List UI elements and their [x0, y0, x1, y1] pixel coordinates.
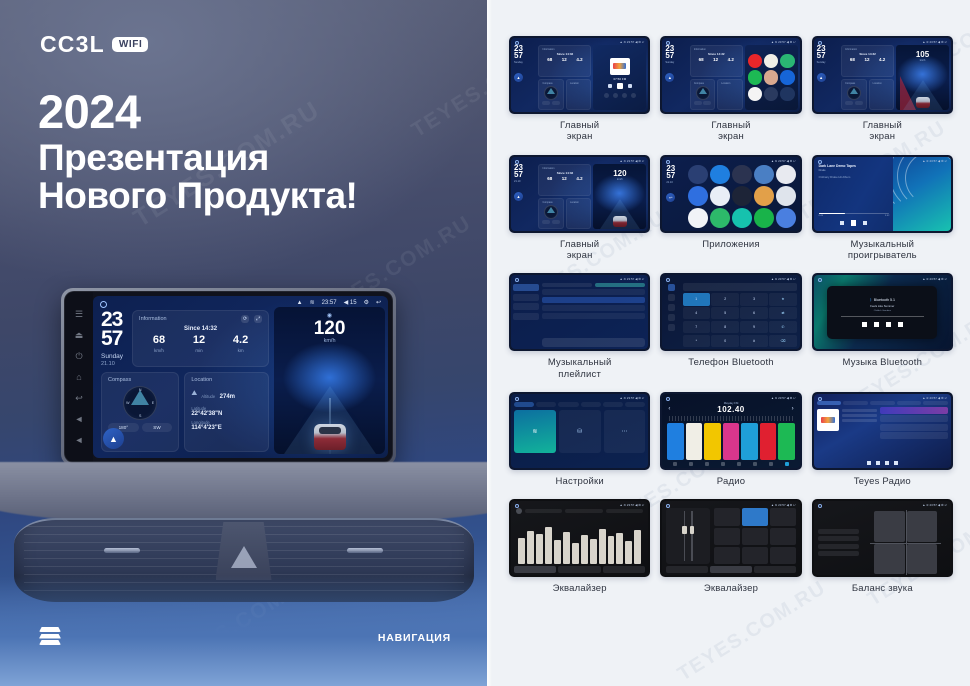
status-bar: ▲ ≋ 23:57 ◀ ⚙ ↩ — [620, 159, 645, 163]
thumbnail-caption: Эквалайзер — [553, 583, 607, 594]
song-subtitle: Ordinary Drake Hit Album — [819, 175, 890, 179]
app-icon-calculator — [754, 165, 774, 185]
thumbnail-caption: Эквалайзер — [704, 583, 758, 594]
screenshot-grid-panel: TEYES.COM.RU TEYES.COM.RU TEYES.COM.RU T… — [487, 0, 970, 686]
thumbnail-teyes-radio[interactable]: ▲ ≋ 23:57 ◀ ⚙ ↩ — [812, 392, 953, 470]
grid-item[interactable]: ▲ ≋ 23:57 ◀ ⚙ ↩ ≋ ⛁ ⋯ — [509, 392, 650, 496]
preset-2 — [686, 423, 702, 460]
home-icon — [818, 504, 822, 508]
progress-bar[interactable] — [841, 316, 924, 317]
tab-wifi — [514, 402, 534, 407]
thumbnail-bluetooth-music[interactable]: ▲ ≋ 23:57 ◀ ⚙ ↩ ᛒ Bluetooth 5.1 Feels Li… — [812, 273, 953, 351]
grid-item[interactable]: ▲ ≋ 23:57 ◀ ⚙ ↩ — [812, 499, 953, 603]
app-icon-gallery — [776, 186, 796, 206]
grid-item[interactable]: ▲ ≋ 23:57 ◀ ⚙ ↩ 23 57 21.10 ↩ — [660, 155, 801, 271]
thumbnail-home-drive-red[interactable]: ▲ ≋ 23:57 ◀ ⚙ ↩ 23 57 Sunday ▲ Informati… — [812, 36, 953, 114]
car-dashboard — [0, 452, 487, 686]
player-controls[interactable] — [862, 322, 903, 327]
previous-icon — [840, 221, 844, 225]
speaker-level-list[interactable] — [818, 529, 859, 557]
thumbnail-caption: Музыка Bluetooth — [843, 357, 923, 368]
progress-bar[interactable] — [819, 213, 890, 214]
next-icon — [885, 461, 889, 465]
key-9: 9 — [740, 321, 767, 333]
thumbnail-caption: Телефон Bluetooth — [688, 357, 774, 368]
grid-item[interactable]: ▲ ≋ 23:57 ◀ ⚙ ↩ Dark Lane Demo Tapes Dra… — [812, 155, 953, 271]
track-row[interactable] — [542, 313, 645, 319]
playlist-main[interactable] — [541, 282, 648, 349]
preset-3 — [704, 423, 720, 460]
thumbnail-apps[interactable]: ▲ ≋ 23:57 ◀ ⚙ ↩ 23 57 21.10 ↩ — [660, 155, 801, 233]
driving-widget[interactable]: 105 km/h — [896, 45, 949, 110]
tab-effects — [603, 566, 645, 573]
backspace-icon: ⌫ — [769, 335, 796, 347]
status-bar: ▲ ≋ 23:57 ◀ ⚙ ↩ — [620, 396, 645, 400]
location-card[interactable]: Location — [717, 79, 742, 110]
level-right — [818, 551, 859, 556]
home-icon — [515, 160, 519, 164]
information-card[interactable]: Information Since 14:32 68 12 4.2 — [538, 164, 591, 196]
wifi-icon[interactable]: ≋ — [514, 410, 556, 453]
sidebar-item-folders — [513, 313, 539, 320]
dashboard-button-left[interactable] — [104, 548, 140, 553]
nav-label: НАВИГАЦИЯ — [378, 632, 451, 644]
altitude-value: 274m — [220, 394, 235, 400]
equalizer-band-sliders[interactable] — [514, 516, 645, 566]
app-icon-youtube[interactable] — [748, 54, 762, 68]
information-card[interactable]: Information Since 14:32 68 12 4.2 — [538, 45, 591, 77]
mini-player-bar[interactable] — [542, 338, 645, 347]
home-icon[interactable]: ⌂ — [74, 372, 85, 383]
refresh-icon[interactable]: ⟳ — [241, 315, 249, 323]
location-title: Location — [191, 377, 262, 383]
equalizer-header[interactable] — [514, 508, 645, 516]
location-card[interactable]: Location — [566, 198, 591, 229]
power-icon[interactable]: ⏻ — [74, 351, 85, 362]
thumbnail-home-drive[interactable]: ▲ ≋ 23:57 ◀ ⚙ ↩ 23 57 21.10 ▲ Informatio… — [509, 155, 650, 233]
speed-unit: km/h — [920, 59, 926, 62]
speaker-rear-left — [874, 544, 904, 574]
app-icon-playstore[interactable] — [748, 87, 762, 101]
head-unit-screen[interactable]: ▲ ≋ 23:57 ◀ 15 ⚙ ↩ 23 57 Sunday — [93, 296, 388, 458]
tab-genres — [843, 401, 868, 405]
stop-icon — [876, 461, 880, 465]
key-1: 1 — [683, 293, 710, 305]
preset-rock — [770, 508, 796, 525]
app-icon-equalizer — [732, 186, 752, 206]
thumbnail-caption: Радио — [717, 476, 745, 487]
location-card[interactable]: Location — [869, 79, 894, 110]
location-card[interactable]: Location ⛰ Altitude 274m Latitude — [184, 372, 269, 452]
key-8: 8 — [711, 321, 738, 333]
car-graphic — [314, 424, 346, 450]
settings-cards[interactable]: ≋ ⛁ ⋯ — [514, 410, 645, 453]
preset-vocal — [770, 528, 796, 545]
tab-eq — [666, 566, 708, 573]
status-bar: ▲ ≋ 23:57 ◀ ⚙ ↩ — [620, 40, 645, 44]
tab-update — [625, 402, 645, 407]
navigation-fab-button[interactable]: ▲ — [817, 73, 826, 82]
grid-item[interactable]: ▲ ≋ 23:57 ◀ ⚙ ↩ 23 57 Sunday ▲ Informati… — [660, 36, 801, 152]
gear-icon[interactable]: ⚙ — [364, 299, 369, 306]
clock-widget: 23 57 21.10 ↩ — [662, 157, 685, 231]
tab-all — [542, 283, 592, 287]
settings-tabs[interactable] — [514, 402, 645, 407]
stat-value: 68 — [699, 57, 704, 62]
hazard-button[interactable] — [216, 522, 272, 580]
tuner-row[interactable]: ‹ 102.40 › — [665, 405, 796, 414]
back-button[interactable]: ↩ — [666, 193, 675, 202]
stat-value: 4.2 — [576, 57, 582, 62]
song-title: Feels Like Summer — [870, 304, 894, 308]
information-card[interactable]: Information Since 14:32 68 12 4.2 — [841, 45, 894, 77]
page-title: 2024 Презентация Нового Продукта! — [38, 88, 357, 216]
song-title: Dark Lane Demo Tapes — [819, 164, 890, 168]
preset-classic — [742, 528, 768, 545]
app-icon-maps[interactable] — [780, 54, 794, 68]
track-row[interactable] — [542, 289, 645, 295]
status-bar: ▲ ≋ 23:57 ◀ ⚙ ↩ — [771, 277, 796, 281]
compass-n: N — [139, 388, 142, 392]
thumbnail-caption: Настройки — [555, 476, 603, 487]
station-row[interactable] — [880, 432, 948, 439]
navigation-fab-button[interactable]: ▲ — [103, 428, 124, 449]
app-icon-spotify[interactable] — [748, 70, 762, 84]
grid-item[interactable]: ▲ ≋ 23:57 ◀ ⚙ ↩ — [812, 392, 953, 496]
next-station-icon[interactable]: › — [792, 406, 794, 412]
clock-date: 21.10 — [666, 181, 685, 184]
thumbnail-bluetooth-phone[interactable]: ▲ ≋ 23:57 ◀ ⚙ ↩ 123★ 456⇄ — [660, 273, 801, 351]
more-icon[interactable]: ⋯ — [604, 410, 646, 453]
app-icon-navi[interactable] — [780, 70, 794, 84]
key-6: 6 — [740, 307, 767, 319]
player-controls[interactable] — [819, 220, 890, 226]
location-card[interactable]: Location — [566, 79, 591, 110]
home-icon — [515, 397, 519, 401]
compass-card[interactable]: Compass — [690, 79, 715, 110]
compass-s: S — [139, 414, 141, 418]
navigation-fab-button[interactable]: ▲ — [514, 192, 523, 201]
stat-value: 68 — [850, 57, 855, 62]
clock-widget: 23 57 Sunday ▲ — [514, 45, 536, 110]
station-row[interactable] — [880, 424, 948, 431]
expand-icon[interactable]: ⤢ — [254, 315, 262, 323]
station-row[interactable] — [880, 415, 948, 422]
app-shortcuts-widget[interactable] — [745, 45, 798, 110]
navigation-fab-button[interactable]: ▲ — [665, 73, 674, 82]
information-actions[interactable]: ⟳ ⤢ — [241, 315, 262, 323]
radio-toolbar[interactable] — [665, 460, 796, 466]
thumbnail-caption: Баланс звука — [852, 583, 913, 594]
thumbnail-caption: Главный экран — [560, 120, 599, 142]
compass-direction: SW — [142, 423, 173, 432]
sidebar-item-dialpad — [668, 284, 675, 291]
compass-title: Compass — [542, 201, 559, 204]
preset-7 — [778, 423, 794, 460]
location-title: Location — [570, 201, 587, 204]
sidebar-item-artists — [513, 294, 539, 301]
eq-icon — [721, 462, 725, 466]
thumbnail-settings[interactable]: ▲ ≋ 23:57 ◀ ⚙ ↩ ≋ ⛁ ⋯ — [509, 392, 650, 470]
player-controls[interactable] — [608, 83, 632, 89]
car-graphic — [613, 216, 627, 227]
menu-icon[interactable]: ☰ — [74, 309, 85, 320]
app-icon-settings[interactable] — [764, 87, 778, 101]
preset-bass — [742, 547, 768, 564]
tab-history — [923, 401, 948, 405]
compass-card[interactable]: Compass — [538, 198, 563, 229]
back-icon[interactable]: ↩ — [376, 299, 381, 306]
clock-time: 23 57 Sunday 21.10 — [101, 310, 123, 367]
app-icon-grid[interactable] — [780, 87, 794, 101]
next-icon — [898, 322, 903, 327]
thumbnail-caption: Главный экран — [863, 120, 902, 142]
song-artist: Drake — [819, 169, 890, 172]
time-row: 0:44 3:52 — [819, 215, 890, 217]
clock-minutes: 57 — [514, 52, 536, 59]
tuner-scale[interactable] — [669, 416, 792, 421]
thumbnail-caption: Музыкальный плейлист — [548, 357, 612, 379]
dialpad-keys[interactable]: 123★ 456⇄ 789✆ *0#⌫ — [683, 293, 797, 347]
compass-e: E — [152, 401, 154, 405]
app-icon-chrome — [688, 186, 708, 206]
phone-number-field[interactable] — [683, 283, 797, 291]
music-widget[interactable]: 07:50 FM — [593, 45, 646, 110]
clock-minutes: 57 — [665, 52, 687, 59]
gps-icon: ▲ — [297, 300, 303, 306]
tab-balance — [558, 566, 600, 573]
information-title: Information — [542, 48, 587, 51]
preset-6 — [760, 423, 776, 460]
visualizer-graphic — [893, 157, 951, 231]
location-title: Location — [873, 82, 890, 85]
app-icon-maps — [710, 208, 730, 228]
bluetooth-title: ᛒ Bluetooth 5.1 — [870, 298, 895, 302]
status-bar: ▲ ≋ 23:57 ◀ 15 ⚙ ↩ — [297, 299, 381, 306]
watermark: TEYES.COM.RU — [408, 25, 487, 143]
fm-label: 07:50 FM — [614, 77, 627, 81]
speaker-front-left — [874, 511, 904, 541]
preset-jazz — [714, 528, 740, 545]
compass-title: Compass — [542, 82, 559, 85]
thumbnail-home-apps[interactable]: ▲ ≋ 23:57 ◀ ⚙ ↩ 23 57 Sunday ▲ Informati… — [660, 36, 801, 114]
altitude-label: Altitude — [201, 394, 215, 399]
bluetooth-version: Bluetooth 5.1 — [874, 298, 895, 302]
save-button — [606, 509, 643, 513]
station-presets[interactable] — [665, 423, 796, 460]
information-card[interactable]: Information Since 14:32 68 12 4.2 — [690, 45, 743, 77]
carplay-icon[interactable]: ⛁ — [559, 410, 601, 453]
grid-item[interactable]: ▲ ≋ 23:57 ◀ ⚙ ↩ 123★ 456⇄ — [660, 273, 801, 389]
grid-item[interactable]: ▲ ≋ 23:57 ◀ ⚙ ↩ 23 57 21.10 ▲ Informatio… — [509, 155, 650, 271]
search-icon — [689, 462, 693, 466]
car-graphic — [916, 97, 930, 108]
playlist-sidebar[interactable] — [511, 282, 541, 349]
stat-value: 12 — [864, 57, 869, 62]
wifi-badge-label: WIFI — [119, 40, 143, 50]
clock-weekday: Sunday — [665, 61, 687, 64]
dialer[interactable]: 123★ 456⇄ 789✆ *0#⌫ — [682, 282, 800, 349]
now-playing-info: Dark Lane Demo Tapes Drake Ordinary Drak… — [814, 157, 894, 231]
grid-item[interactable]: ▲ ≋ 23:57 ◀ ⚙ ↩ — [660, 499, 801, 603]
stat-value: 4.2 — [728, 57, 734, 62]
track-row[interactable] — [542, 305, 645, 311]
presentation-page: TEYES.COM.RU TEYES.COM.RU TEYES.COM.RU T… — [0, 0, 970, 686]
key-hash: # — [740, 335, 767, 347]
preset-1 — [667, 423, 683, 460]
phone-sidebar[interactable] — [662, 282, 681, 349]
grid-item[interactable]: ▲ ≋ 23:57 ◀ ⚙ ↩ 23 57 Sunday ▲ Informati… — [509, 36, 650, 152]
stat-value: 12 — [713, 57, 718, 62]
information-since: Since 14:32 — [542, 52, 587, 56]
information-card[interactable]: Information ⟳ ⤢ Since 14:32 68 — [132, 310, 269, 367]
information-since: Since 14:32 — [694, 52, 739, 56]
playlist-tabs[interactable] — [542, 283, 645, 287]
thumbnail-caption: Приложения — [702, 239, 760, 250]
power-icon — [785, 462, 789, 466]
app-icon-photos[interactable] — [764, 70, 778, 84]
stat-item: 68 km/h — [153, 335, 165, 353]
hero-line-2: Нового Продукта! — [38, 177, 357, 215]
preset-grid[interactable] — [714, 508, 795, 564]
reset-button — [565, 509, 602, 513]
station-list[interactable] — [880, 407, 948, 459]
preset-standard — [742, 508, 768, 525]
clock-minutes: 57 — [666, 172, 685, 179]
information-title: Information — [542, 167, 587, 170]
location-title: Location — [570, 82, 587, 85]
volume-up-icon[interactable]: ◄ — [74, 435, 85, 446]
player-controls[interactable] — [817, 461, 948, 465]
grid-item[interactable]: ▲ ≋ 23:57 ◀ ⚙ ↩ Эк — [509, 499, 650, 603]
home-icon — [515, 41, 519, 45]
grid-item[interactable]: ▲ ≋ 23:57 ◀ ⚙ ↩ Mayday FM ‹ 102.40 › — [660, 392, 801, 496]
volume-down-icon[interactable]: ◄ — [74, 414, 85, 425]
sidebar-item-contacts — [668, 294, 675, 301]
app-drawer[interactable] — [686, 157, 800, 231]
sync-icon: ⇄ — [769, 307, 796, 319]
preset-selector — [525, 509, 562, 513]
prev-station-icon[interactable]: ‹ — [668, 406, 670, 412]
app-icon-radio — [776, 208, 796, 228]
driving-widget[interactable]: ◉ 120 km/h — [274, 307, 385, 454]
thumbnail-caption: Главный экран — [711, 120, 750, 142]
information-header: Information ⟳ ⤢ — [139, 315, 262, 323]
bass-treble-sliders[interactable] — [666, 508, 710, 564]
thumbnail-grid: ▲ ≋ 23:57 ◀ ⚙ ↩ 23 57 Sunday ▲ Informati… — [509, 36, 953, 603]
app-icon-bluetooth — [710, 165, 730, 185]
compass-title: Compass — [694, 82, 711, 85]
thumbnail-home-music[interactable]: ▲ ≋ 23:57 ◀ ⚙ ↩ 23 57 Sunday ▲ Informati… — [509, 36, 650, 114]
navigation-fab-button[interactable]: ▲ — [514, 73, 523, 82]
clock-minutes: 57 — [514, 171, 536, 178]
information-since: Since 14:32 — [542, 171, 587, 175]
status-bar: ▲ ≋ 23:57 ◀ ⚙ ↩ — [771, 503, 796, 507]
loc-icon — [737, 462, 741, 466]
tab-eq — [514, 566, 556, 573]
quick-actions[interactable] — [604, 93, 636, 98]
stat-value: 4.2 — [879, 57, 885, 62]
thumbnail-music-player[interactable]: ▲ ≋ 23:57 ◀ ⚙ ↩ Dark Lane Demo Tapes Dra… — [812, 155, 953, 233]
thumbnail-playlist[interactable]: ▲ ≋ 23:57 ◀ ⚙ ↩ — [509, 273, 650, 351]
stat-item: 12 min — [193, 335, 205, 353]
clock-date: 21.10 — [101, 361, 123, 367]
speed-unit: km/h — [274, 338, 385, 344]
dashboard-button-right[interactable] — [347, 548, 383, 553]
app-icon-bluetooth-music — [732, 165, 752, 185]
favorite-icon — [894, 461, 898, 465]
station-meta — [842, 407, 877, 459]
clock-minutes: 57 — [101, 329, 123, 348]
equalizer-tabs[interactable] — [514, 566, 645, 573]
driving-widget[interactable]: 120 km/h — [593, 164, 646, 229]
latitude-value: 22°42'38"N — [191, 411, 262, 417]
album-art — [610, 58, 630, 75]
equalizer-tabs[interactable] — [666, 566, 795, 573]
stat-unit: km/h — [153, 348, 165, 353]
key-4: 4 — [683, 307, 710, 319]
thumbnail-equalizer[interactable]: ▲ ≋ 23:57 ◀ ⚙ ↩ — [509, 499, 650, 577]
back-icon[interactable]: ↩ — [74, 393, 85, 404]
sidebar-item-albums — [513, 303, 539, 310]
home-indicator-icon[interactable] — [100, 301, 107, 308]
dashboard-glow — [0, 576, 487, 686]
status-bar: ▲ ≋ 23:57 ◀ ⚙ ↩ — [771, 396, 796, 400]
app-icon-browser[interactable] — [764, 54, 778, 68]
head-unit-side-buttons[interactable]: ☰ ⏏ ⏻ ⌂ ↩ ◄ ◄ — [65, 292, 93, 462]
hero-line-1: Презентация — [38, 139, 357, 177]
compass-card[interactable]: Compass — [538, 79, 563, 110]
sidebar-item-tracks — [513, 284, 539, 291]
teyes-top-tabs[interactable] — [817, 401, 948, 405]
grid-item[interactable]: ▲ ≋ 23:57 ◀ ⚙ ↩ ᛒ Bluetooth 5.1 Feels Li… — [812, 273, 953, 389]
stat-value: 68 — [547, 57, 552, 62]
tab-countries — [870, 401, 895, 405]
home-left-column: 23 57 Sunday 21.10 Information ⟳ — [93, 296, 274, 458]
thumbnail-sound-balance[interactable]: ▲ ≋ 23:57 ◀ ⚙ ↩ — [812, 499, 953, 577]
tab-list — [595, 283, 645, 287]
compass-card[interactable]: Compass — [841, 79, 866, 110]
head-unit-bezel: ☰ ⏏ ⏻ ⌂ ↩ ◄ ◄ ▲ ≋ 23:57 ◀ 15 ⚙ — [64, 291, 393, 463]
speed-value: 105 — [916, 51, 929, 59]
status-bar: ▲ ≋ 23:57 ◀ ⚙ ↩ — [922, 40, 947, 44]
level-rear — [818, 536, 859, 541]
eject-icon[interactable]: ⏏ — [74, 330, 85, 341]
level-front — [818, 529, 859, 534]
app-icon-google — [688, 208, 708, 228]
play-pause-icon — [874, 322, 879, 327]
thumbnail-equalizer-presets[interactable]: ▲ ≋ 23:57 ◀ ⚙ ↩ — [660, 499, 801, 577]
thumbnail-radio[interactable]: ▲ ≋ 23:57 ◀ ⚙ ↩ Mayday FM ‹ 102.40 › — [660, 392, 801, 470]
stat-value: 12 — [562, 57, 567, 62]
station-row[interactable] — [880, 407, 948, 414]
thumbnail-caption: Главный экран — [560, 239, 599, 261]
stat-value: 4.2 — [233, 335, 248, 346]
list-icon — [705, 462, 709, 466]
preset-5 — [741, 423, 757, 460]
sidebar-item-calls — [668, 314, 675, 321]
location-altitude: ⛰ Altitude 274m — [191, 385, 262, 403]
tab-system — [581, 402, 601, 407]
status-bar: ▲ ≋ 23:57 ◀ ⚙ ↩ — [922, 503, 947, 507]
now-playing-panel — [817, 407, 877, 459]
grid-item[interactable]: ▲ ≋ 23:57 ◀ ⚙ ↩ — [509, 273, 650, 389]
tab-favorites — [897, 401, 922, 405]
grid-item[interactable]: ▲ ≋ 23:57 ◀ ⚙ ↩ 23 57 Sunday ▲ Informati… — [812, 36, 953, 152]
balance-pad[interactable] — [864, 508, 947, 575]
track-row[interactable] — [542, 297, 645, 303]
compass-w: W — [126, 401, 129, 405]
